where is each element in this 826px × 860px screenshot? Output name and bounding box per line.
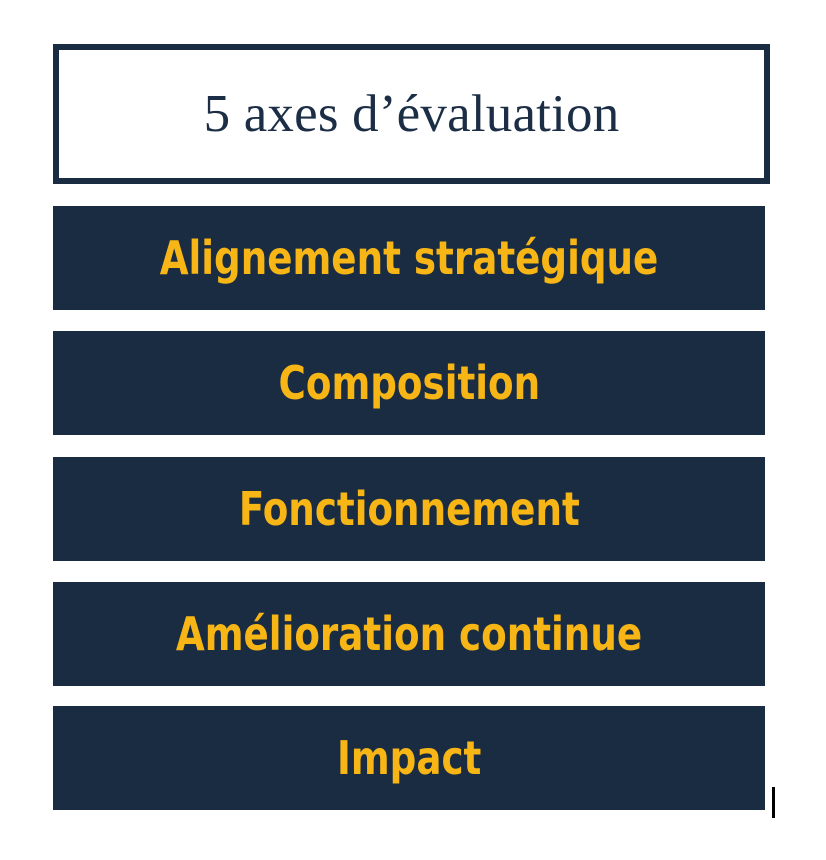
text-caret <box>772 787 775 818</box>
axis-bar-alignement-strategique[interactable]: Alignement stratégique <box>53 206 765 310</box>
axis-bar-amelioration-continue[interactable]: Amélioration continue <box>53 582 765 686</box>
axis-bar-label: Fonctionnement <box>239 486 580 532</box>
axis-bar-impact[interactable]: Impact <box>53 706 765 810</box>
axis-bar-label: Amélioration continue <box>176 611 642 657</box>
axis-bar-label: Composition <box>278 360 540 406</box>
title-box[interactable]: 5 axes d’évaluation <box>53 44 770 184</box>
page-title: 5 axes d’évaluation <box>204 88 620 141</box>
axis-bar-label: Impact <box>337 735 481 781</box>
axis-bar-label: Alignement stratégique <box>160 235 659 281</box>
axis-bar-fonctionnement[interactable]: Fonctionnement <box>53 457 765 561</box>
slide-canvas: 5 axes d’évaluation Alignement stratégiq… <box>0 0 826 860</box>
axis-bar-composition[interactable]: Composition <box>53 331 765 435</box>
